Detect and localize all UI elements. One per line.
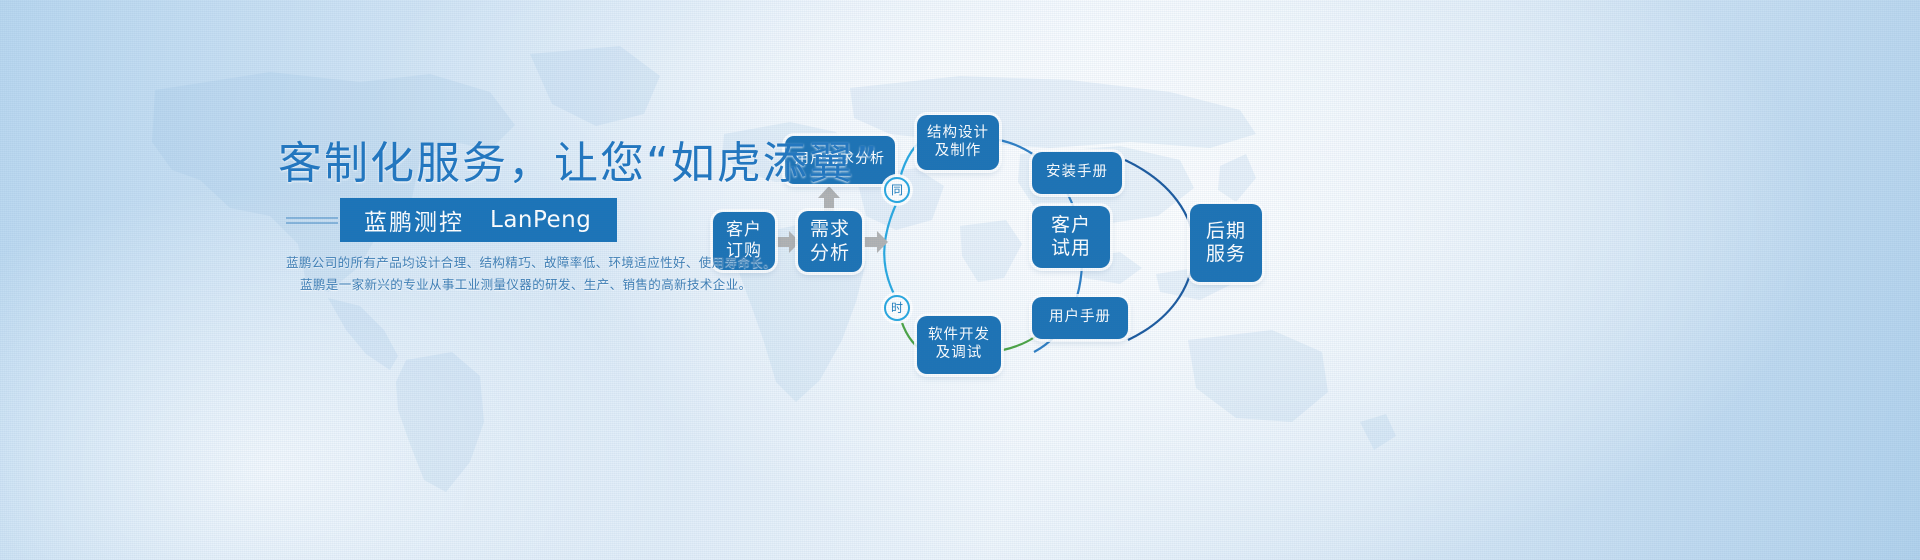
node-label-line: 及制作: [935, 143, 982, 161]
description-block: 蓝鹏公司的所有产品均设计合理、结构精巧、故障率低、环境适应性好、使用寿命长。 蓝…: [286, 252, 686, 296]
node-label-line: 用户手册: [1049, 309, 1111, 327]
node-label-line: 结构设计: [927, 125, 989, 143]
node-structural-design[interactable]: 结构设计 及制作: [917, 115, 999, 170]
brand-bar: 蓝鹏测控 LanPeng: [340, 198, 617, 242]
node-installation-manual[interactable]: 安装手册: [1032, 152, 1122, 194]
brand-name-en: LanPeng: [490, 207, 591, 233]
page-title: 客制化服务，让您“如虎添翼”: [278, 138, 880, 190]
arrow-analysis-to-cycle: [864, 230, 888, 254]
node-label-line: 软件开发: [928, 327, 990, 345]
node-label-line: 需求: [810, 218, 850, 241]
node-label-line: 分析: [810, 242, 850, 265]
node-label-line: 客户: [726, 220, 762, 241]
badge-simultaneous-tong: 同: [884, 177, 910, 203]
badge-simultaneous-shi: 时: [884, 295, 910, 321]
badge-label: 同: [891, 184, 903, 196]
brand-row: 蓝鹏测控 LanPeng: [286, 198, 617, 242]
decorative-lines: [286, 213, 338, 227]
node-label-line: 安装手册: [1046, 164, 1108, 182]
node-customer-trial[interactable]: 客户 试用: [1032, 206, 1110, 268]
badge-label: 时: [891, 302, 903, 314]
node-label-line: 试用: [1051, 237, 1091, 260]
node-requirement-analysis[interactable]: 需求 分析: [798, 211, 862, 272]
node-label-line: 后期: [1206, 220, 1246, 243]
node-label-line: 及调试: [936, 345, 983, 363]
node-software-development[interactable]: 软件开发 及调试: [917, 316, 1001, 374]
arrow-order-to-analysis: [776, 230, 800, 254]
brand-name-cn: 蓝鹏测控: [364, 203, 464, 237]
node-after-sales-service[interactable]: 后期 服务: [1190, 204, 1262, 282]
node-label-line: 客户: [1051, 214, 1091, 237]
node-label-line: 服务: [1206, 243, 1246, 266]
node-user-manual[interactable]: 用户手册: [1032, 297, 1128, 339]
description-line-2: 蓝鹏是一家新兴的专业从事工业测量仪器的研发、生产、销售的高新技术企业。: [286, 274, 686, 296]
description-line-1: 蓝鹏公司的所有产品均设计合理、结构精巧、故障率低、环境适应性好、使用寿命长。: [286, 252, 686, 274]
banner-stage: 客制化服务，让您“如虎添翼” 蓝鹏测控 LanPeng 蓝鹏公司的所有产品均设计…: [0, 0, 1920, 560]
